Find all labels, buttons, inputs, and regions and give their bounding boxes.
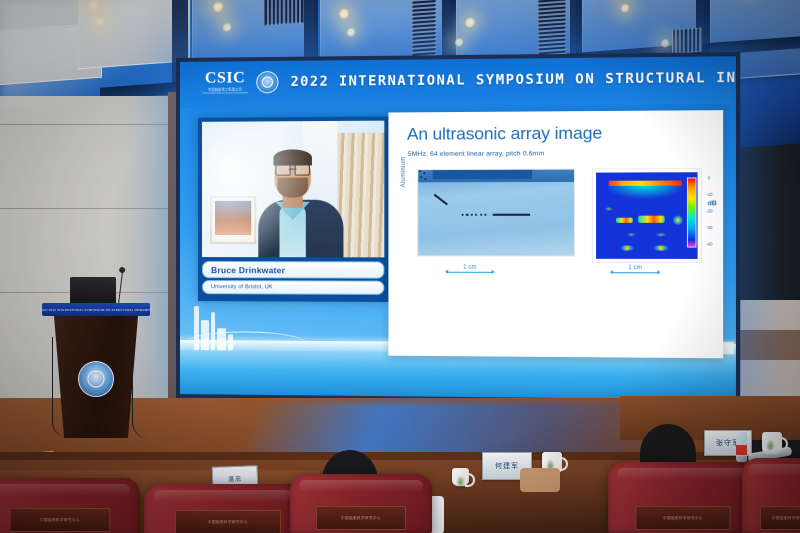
speaker-name-bar: Bruce Drinkwater	[202, 261, 384, 279]
tfm-surface-noise	[604, 185, 685, 199]
b-scan-material-label: Aluminium	[401, 156, 407, 187]
auditorium-seat: 中国船舶科学研究中心	[608, 462, 758, 533]
auditorium-seat: 中国船舶科学研究中心	[290, 474, 432, 533]
left-scale-bar-label: 1 cm	[463, 265, 476, 271]
auditorium-seat: 中国船舶科学研究中心	[144, 484, 312, 533]
b-scan-slot	[493, 214, 530, 216]
colorbar-tick-40: -40	[706, 241, 712, 246]
university-crest-icon	[78, 361, 114, 397]
lens-foreground-blur	[0, 0, 150, 110]
presentation-slide: An ultrasonic array image 5MHz, 64 eleme…	[388, 110, 723, 358]
audience-person-neck	[520, 468, 560, 492]
b-scan-angled-crack	[434, 194, 448, 205]
tfm-weak-echo-3	[655, 233, 667, 236]
institute-emblem-icon	[256, 71, 278, 93]
speaker-affiliation: University of Bristol, UK	[211, 284, 273, 290]
tfm-backwall-echo-left	[620, 245, 634, 251]
podium: CSIC 2022 INTERNATIONAL SYMPOSIUM ON STR…	[48, 303, 144, 438]
tfm-indication-left	[616, 217, 632, 222]
slide-subtitle: 5MHz, 64 element linear array, pitch 0.6…	[408, 150, 544, 158]
csic-logo: CSIC 中国船舶重工集团公司 China Shipbuilding Indus…	[202, 70, 248, 95]
tfm-canvas	[596, 172, 698, 259]
right-scale-bar: 1 cm	[613, 265, 657, 274]
tfm-backwall-echo-right	[653, 245, 669, 251]
led-video-wall: CSIC 中国船舶重工集团公司 China Shipbuilding Indus…	[176, 52, 740, 404]
seat-plate: 中国船舶科学研究中心	[9, 508, 110, 532]
mug-3	[452, 468, 469, 486]
colorbar-tick-30: -30	[706, 225, 712, 230]
seat-plate-text: 中国船舶科学研究中心	[208, 520, 248, 525]
colorbar-tick-10: -10	[706, 192, 712, 197]
colorbar-unit-label: dB	[708, 200, 717, 207]
skyline-bridge	[186, 331, 307, 355]
podium-banner-text: CSIC 2022 INTERNATIONAL SYMPOSIUM ON STR…	[40, 308, 153, 312]
colorbar-tick-20: -20	[706, 208, 712, 213]
seat-plate-text: 中国船舶科学研究中心	[341, 516, 381, 521]
tfm-front-surface-echo	[608, 180, 681, 185]
wall-seam-2	[0, 208, 190, 209]
seat-plate: 中国船舶科学研究中心	[636, 506, 731, 530]
slide-title: An ultrasonic array image	[407, 123, 602, 145]
speaker-name: Bruce Drinkwater	[211, 265, 285, 275]
screenshot-root: CSIC 中国船舶重工集团公司 China Shipbuilding Indus…	[0, 0, 800, 533]
header-row: CSIC 中国船舶重工集团公司 China Shipbuilding Indus…	[202, 65, 736, 96]
auditorium-seat: 中国船舶科学研究中心	[742, 458, 800, 533]
seat-plate-text: 中国船舶科学研究中心	[663, 516, 703, 521]
podium-laptop	[70, 277, 116, 304]
b-scan-photo	[417, 169, 575, 257]
tfm-ultrasound-image: 0 -10 -20 -30 -40 dB	[592, 168, 702, 263]
tfm-indication-right	[673, 216, 682, 226]
podium-banner: CSIC 2022 INTERNATIONAL SYMPOSIUM ON STR…	[42, 303, 150, 316]
csic-logo-sub-en: China Shipbuilding Industry Corporation	[202, 93, 248, 96]
b-scan-array-footprint	[433, 170, 533, 179]
speaker-video-tile: Bruce Drinkwater University of Bristol, …	[198, 117, 388, 302]
video-bg-curtain	[337, 133, 384, 258]
tfm-weak-echo-2	[626, 233, 636, 236]
auditorium-seat: 中国船舶科学研究中心	[0, 478, 140, 533]
video-lens-glare	[202, 121, 313, 258]
podium-cable-2	[132, 343, 149, 439]
left-scale-bar-line	[448, 272, 491, 273]
right-scale-bar-label: 1 cm	[628, 265, 642, 271]
ceiling-air-vent-1	[264, 0, 304, 26]
speaker-affiliation-bar: University of Bristol, UK	[202, 280, 384, 295]
nameplate-1-text: 何建军	[495, 461, 519, 471]
left-scale-bar: 1 cm	[448, 265, 491, 274]
seat-plate: 中国船舶科学研究中心	[175, 510, 281, 533]
seat-plate: 中国船舶科学研究中心	[316, 506, 406, 530]
csic-logo-text: CSIC	[205, 70, 245, 86]
ceiling-air-vent-4	[672, 28, 702, 54]
seat-plate-text: 中国船舶科学研究中心	[40, 518, 80, 523]
b-scan-hole-row	[462, 214, 487, 216]
symposium-header-band: CSIC 中国船舶重工集团公司 China Shipbuilding Indus…	[180, 56, 736, 108]
nameplate-3-text: 温忠	[228, 473, 242, 482]
tfm-weak-echo-1	[604, 207, 613, 210]
seat-plate: 中国船舶科学研究中心	[760, 506, 800, 530]
led-screen-content: CSIC 中国船舶重工集团公司 China Shipbuilding Indus…	[180, 56, 736, 400]
water-bottle	[736, 432, 747, 462]
right-scale-bar-line	[613, 272, 657, 273]
podium-cable-1	[52, 337, 67, 437]
symposium-title: 2022 INTERNATIONAL SYMPOSIUM ON STRUCTUR…	[290, 69, 735, 90]
colorbar-tick-0: 0	[708, 175, 710, 180]
tfm-colorbar	[687, 177, 697, 247]
seat-plate-text: 中国船舶科学研究中心	[772, 516, 800, 521]
speaker-video-feed	[202, 121, 384, 258]
wall-seam-1	[0, 124, 190, 125]
tfm-indication-center	[639, 216, 665, 223]
